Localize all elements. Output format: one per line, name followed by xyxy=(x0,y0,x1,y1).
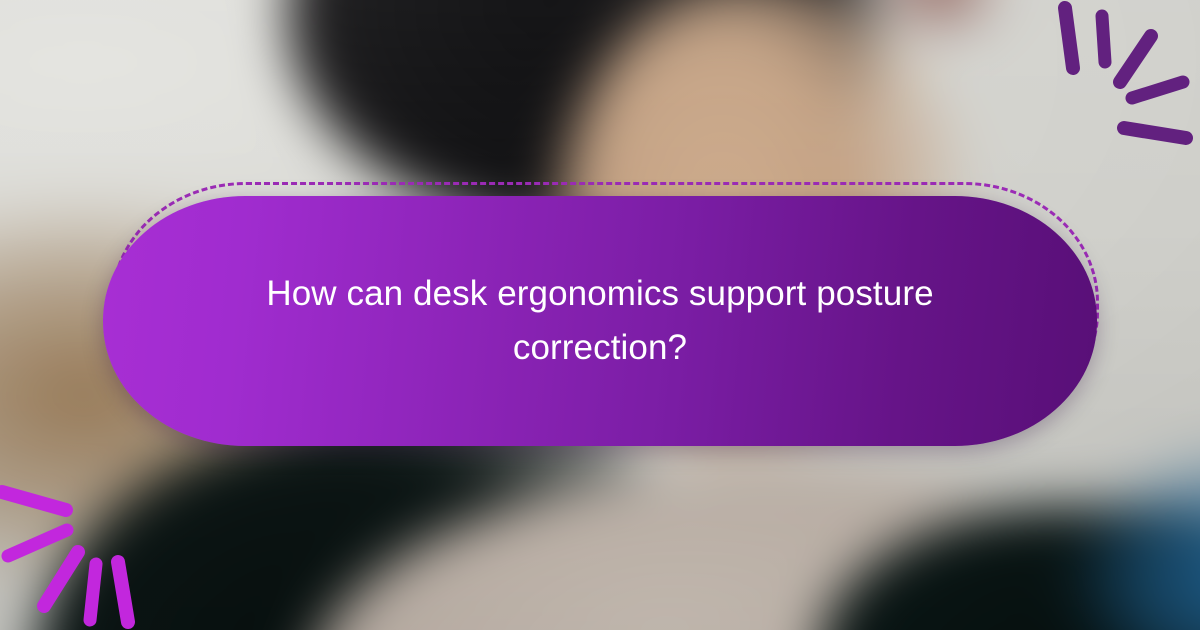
sparkle-burst-icon xyxy=(1020,0,1200,160)
question-card: How can desk ergonomics support posture … xyxy=(103,182,1097,446)
social-card-canvas: How can desk ergonomics support posture … xyxy=(0,0,1200,630)
sparkle-burst-icon xyxy=(0,470,180,630)
page-title: How can desk ergonomics support posture … xyxy=(180,267,1020,374)
card-body: How can desk ergonomics support posture … xyxy=(103,196,1097,446)
